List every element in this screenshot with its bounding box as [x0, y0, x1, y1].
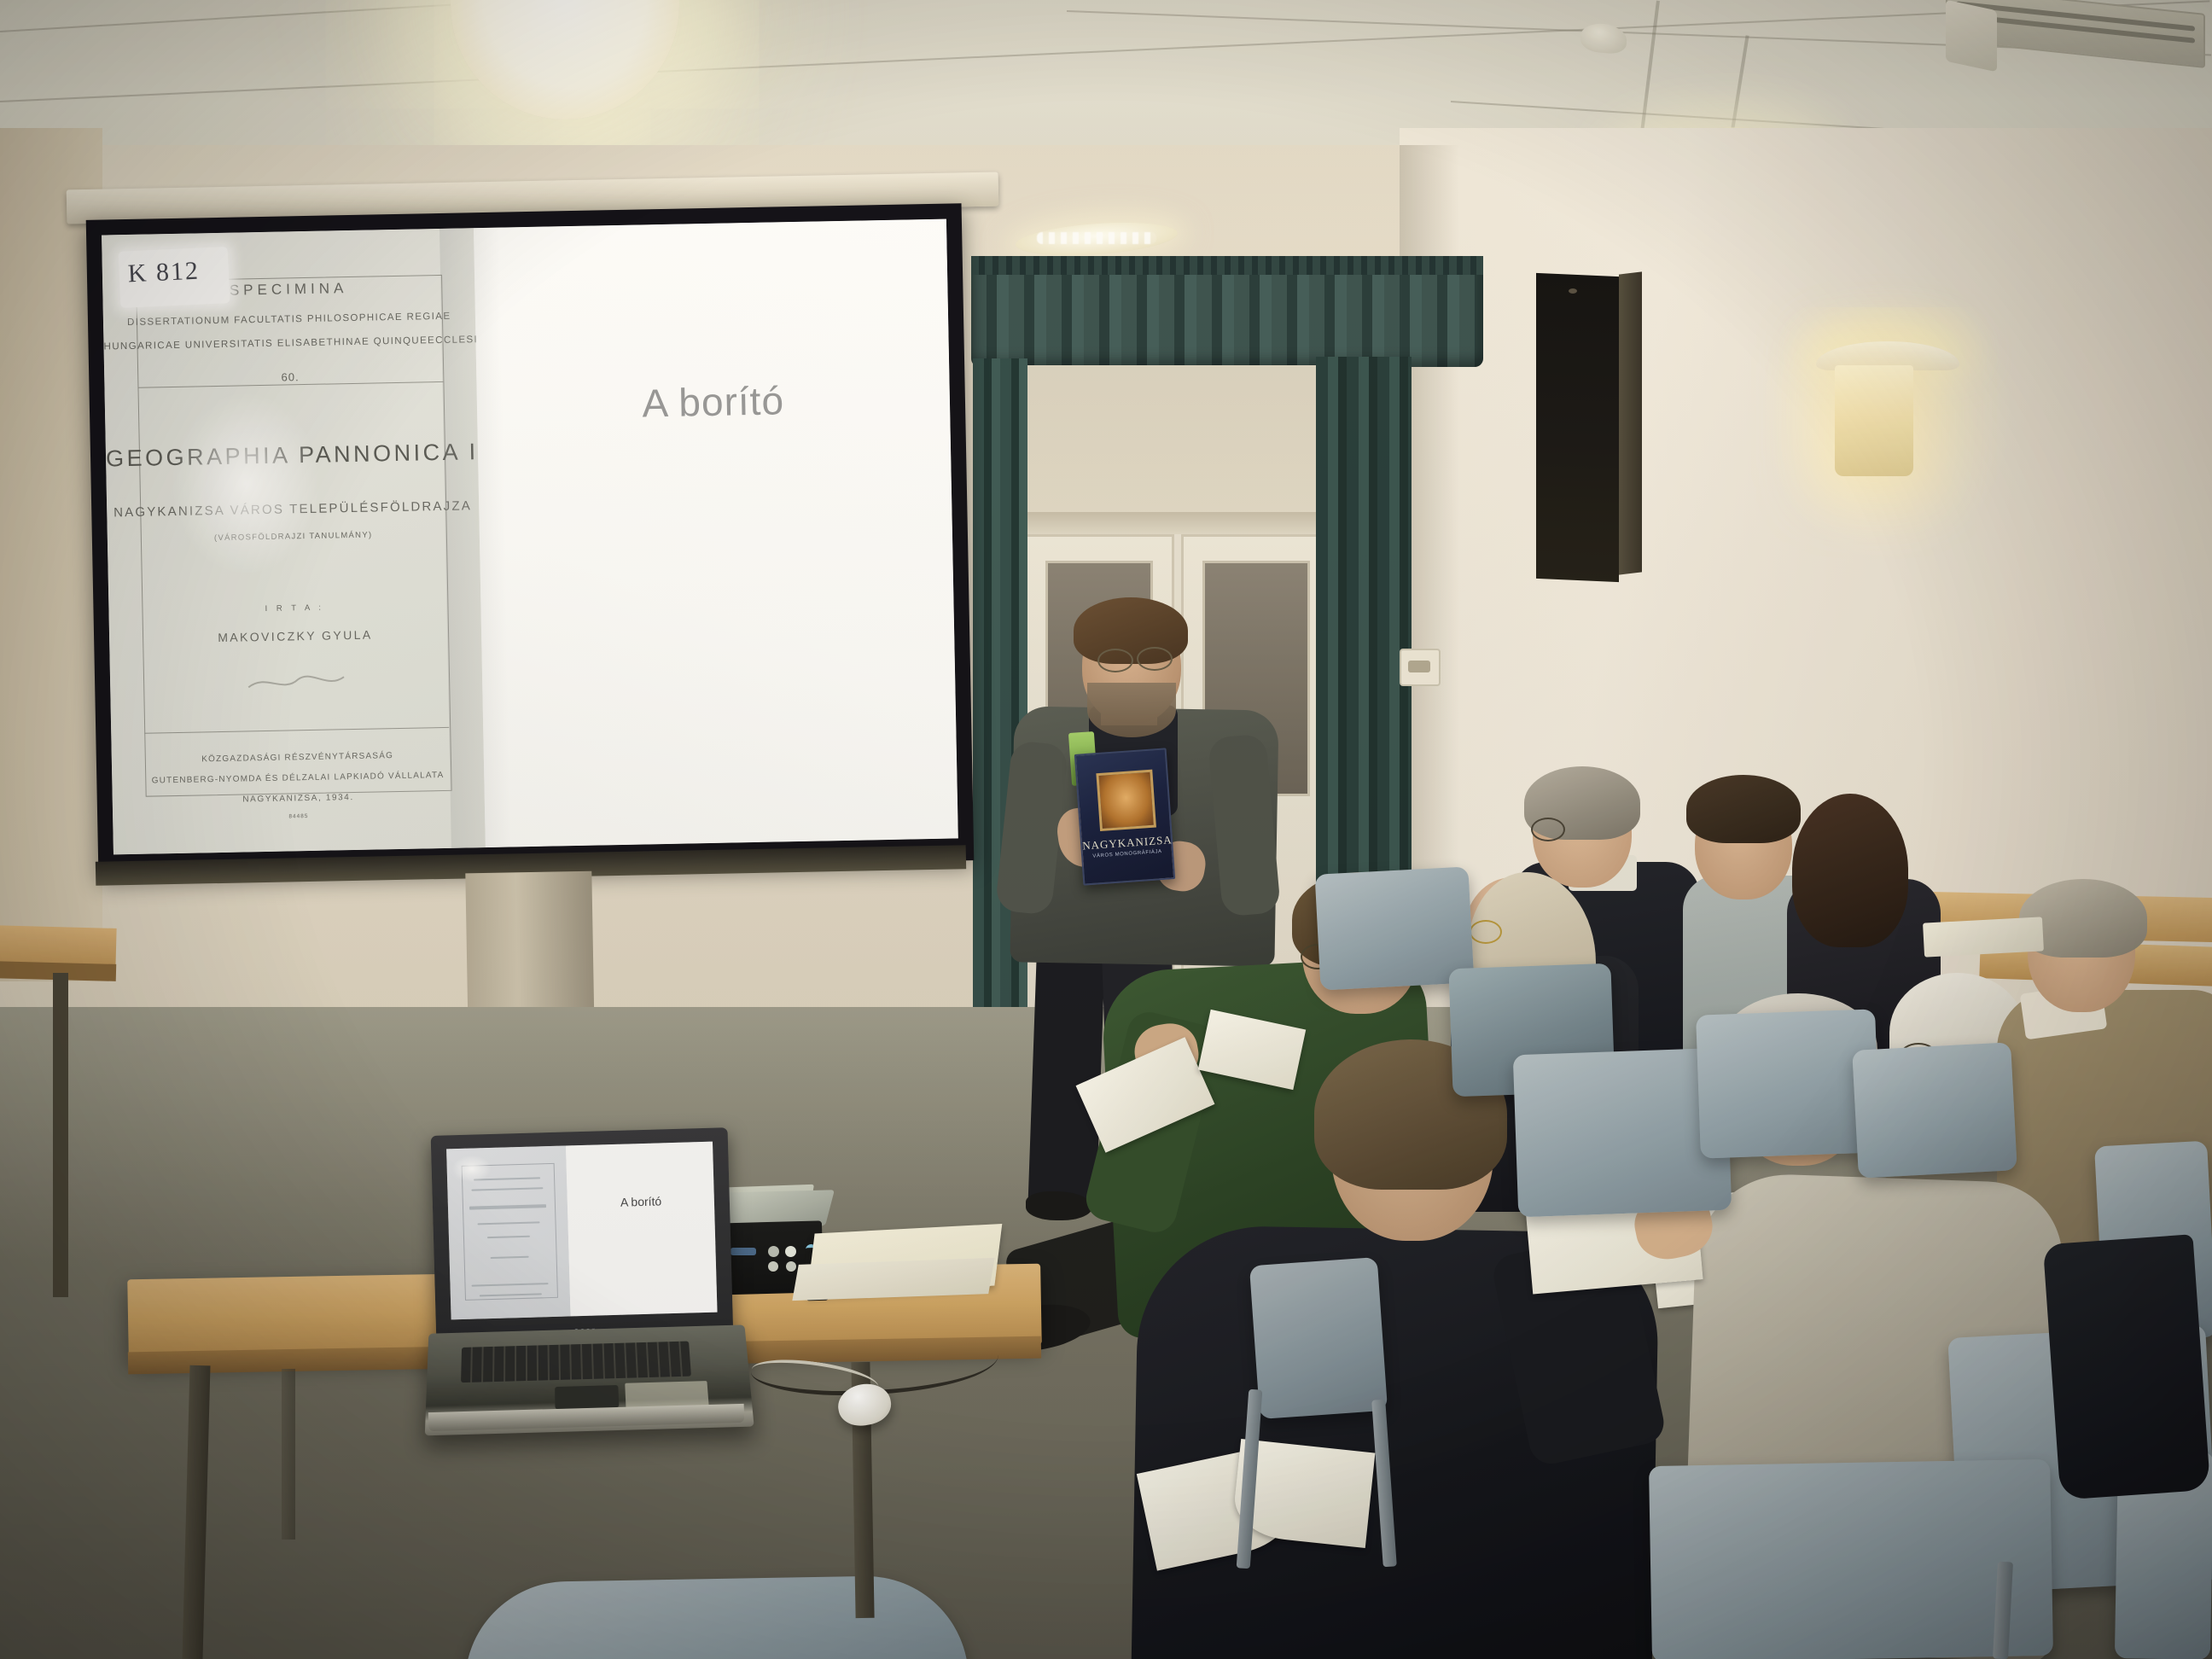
presenter-beard — [1087, 683, 1176, 737]
projector-port-3[interactable] — [785, 1246, 796, 1257]
library-call-number-sticker: K 812 — [118, 247, 230, 308]
library-call-number: K 812 — [127, 257, 201, 289]
blonde-woman-glasses — [1470, 920, 1502, 944]
chair-front-centre[interactable] — [1649, 1459, 2053, 1659]
presenter-shoe-left — [1026, 1191, 1092, 1220]
held-book-cover-illustration — [1096, 770, 1156, 831]
projector-port-6[interactable] — [786, 1261, 796, 1272]
curtain-valance — [971, 256, 1483, 367]
laptop-slide-cover-border — [461, 1163, 557, 1301]
projector-vga-port[interactable] — [731, 1248, 756, 1255]
presenter-glasses-right — [1137, 647, 1173, 671]
wall-sconce — [1835, 365, 1913, 476]
dark-hair-woman-hair — [1792, 794, 1908, 947]
held-book: NAGYKANIZSA VÁROS MONOGRÁFIÁJA — [1074, 748, 1175, 885]
cover-ornament-icon — [245, 671, 347, 695]
slide-title: A borító — [476, 374, 950, 429]
laptop-slide-right: A borító — [566, 1142, 717, 1317]
laptop-lid: A borító acer TravelMate — [431, 1127, 734, 1346]
door-lintel — [1021, 512, 1338, 534]
grey-hair-man-glasses — [1531, 818, 1565, 841]
slide-book-cover-scan: SPECIMINA DISSERTATIONUM FACULTATIS PHIL… — [102, 228, 485, 854]
cover-publisher-code: 84485 — [113, 811, 485, 824]
coat-on-chair — [2043, 1234, 2210, 1500]
wall-speaker — [1536, 273, 1619, 582]
projected-slide: SPECIMINA DISSERTATIONUM FACULTATIS PHIL… — [102, 219, 958, 855]
projection-screen-surface: SPECIMINA DISSERTATIONUM FACULTATIS PHIL… — [102, 219, 958, 855]
young-man-hair — [1686, 775, 1801, 843]
presenter-glasses-left — [1097, 649, 1133, 672]
small-ceiling-light-glint — [1037, 232, 1156, 244]
laptop-screen[interactable]: A borító — [446, 1142, 717, 1320]
table-leg-middle — [282, 1369, 295, 1540]
projector-port-5[interactable] — [768, 1261, 778, 1272]
conference-room-photo: SPECIMINA DISSERTATIONUM FACULTATIS PHIL… — [0, 0, 2212, 1659]
wall-speaker-side — [1619, 271, 1642, 574]
projection-screen: SPECIMINA DISSERTATIONUM FACULTATIS PHIL… — [86, 203, 975, 877]
laptop-touchpad[interactable] — [555, 1385, 619, 1409]
laptop-screen-glare — [451, 1155, 492, 1183]
laptop-keyboard[interactable] — [461, 1342, 691, 1383]
paper-stack-lower — [792, 1258, 994, 1301]
chair-foreground-bottom-left[interactable] — [463, 1575, 969, 1659]
laptop-slide-title: A borító — [568, 1193, 714, 1211]
wall-socket[interactable] — [1400, 649, 1441, 686]
wall-speaker-badge-icon — [1569, 288, 1577, 294]
laptop-slide-cover-scan — [446, 1145, 571, 1319]
chair-back-left[interactable] — [1315, 866, 1475, 990]
notebook-on-back-table — [1923, 917, 2044, 957]
side-table-left-leg — [53, 973, 68, 1297]
slide-right-panel: A borító — [474, 219, 958, 848]
chair-right-back[interactable] — [1852, 1042, 2017, 1179]
projector-port-2[interactable] — [768, 1246, 779, 1257]
chair-mid-right[interactable] — [1696, 1009, 1880, 1158]
air-vent-end — [1946, 0, 1997, 72]
chair-green-jacket-seat[interactable] — [1249, 1257, 1388, 1419]
wall-above-door — [1027, 365, 1316, 527]
